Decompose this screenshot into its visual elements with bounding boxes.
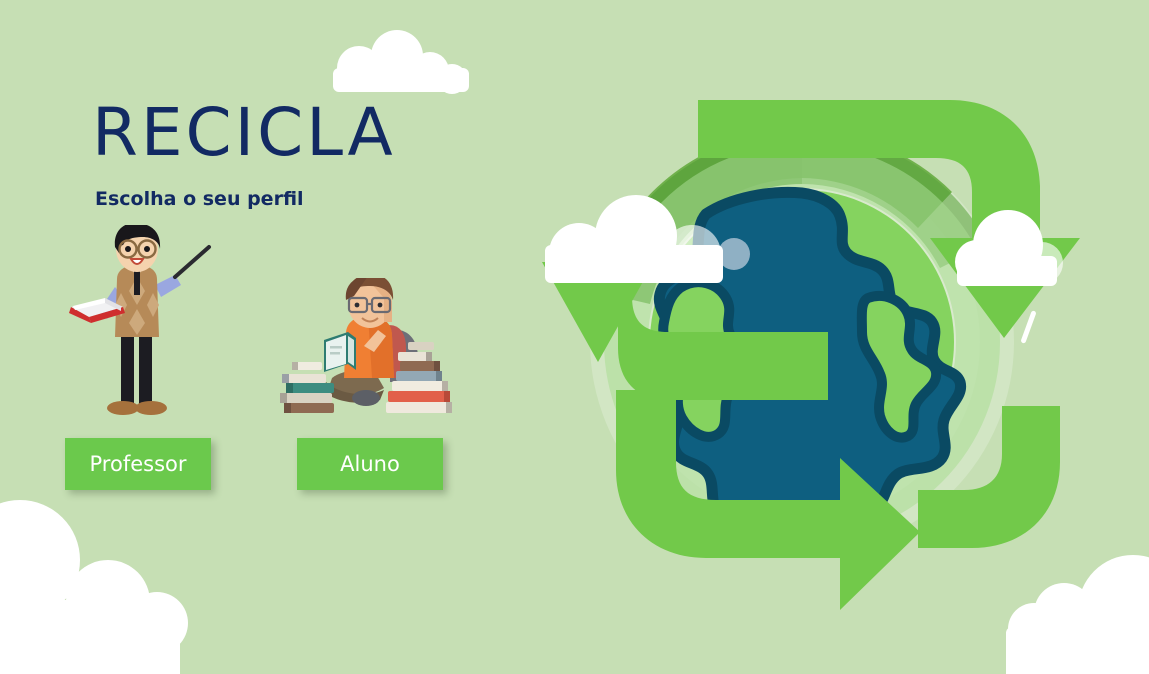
title-block: RECICLA Escolha o seu perfil <box>92 100 396 210</box>
cloud-bottom-right-icon <box>1020 555 1149 674</box>
cloud-top-icon <box>333 30 473 92</box>
cloud-bottom-left-icon <box>0 500 240 674</box>
recycling-globe-icon <box>520 70 1080 610</box>
cloud-hero-left-icon <box>545 195 730 283</box>
page-subtitle: Escolha o seu perfil <box>95 188 396 210</box>
cloud-hero-right-icon <box>955 210 1065 296</box>
page-title: RECICLA <box>92 100 396 166</box>
profile-button-aluno[interactable]: Aluno <box>297 438 443 490</box>
teacher-illustration <box>63 225 213 425</box>
profile-button-professor[interactable]: Professor <box>65 438 211 490</box>
recicla-landing-page: RECICLA Escolha o seu perfil <box>0 0 1149 674</box>
student-illustration <box>280 278 470 428</box>
